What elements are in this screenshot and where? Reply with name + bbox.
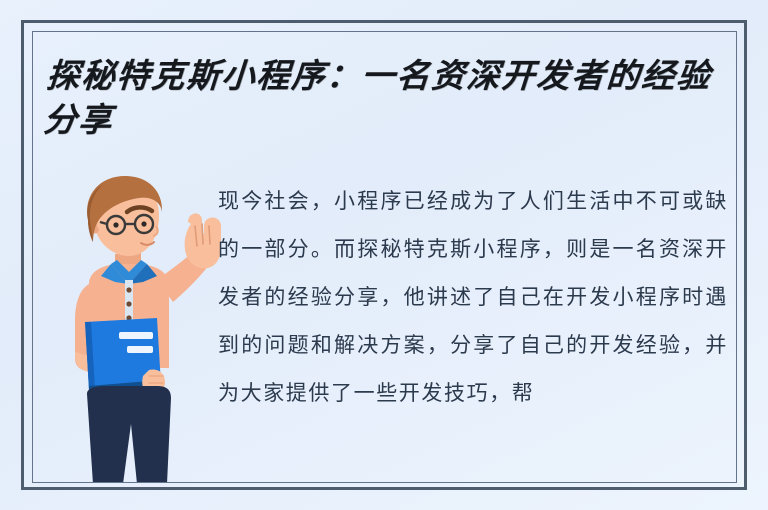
head	[87, 176, 162, 256]
poster-content-stage: 探秘特克斯小程序：一名资深开发者的经验分享	[33, 32, 736, 482]
poster-body-text: 现今社会，小程序已经成为了人们生活中不可或缺的一部分。而探秘特克斯小程序，则是一…	[218, 177, 728, 417]
poster-canvas: 探秘特克斯小程序：一名资深开发者的经验分享	[0, 0, 768, 510]
illustration-male-developer-waving	[45, 172, 230, 482]
poster-title: 探秘特克斯小程序：一名资深开发者的经验分享	[42, 54, 736, 142]
waving-hand-icon	[185, 213, 221, 268]
